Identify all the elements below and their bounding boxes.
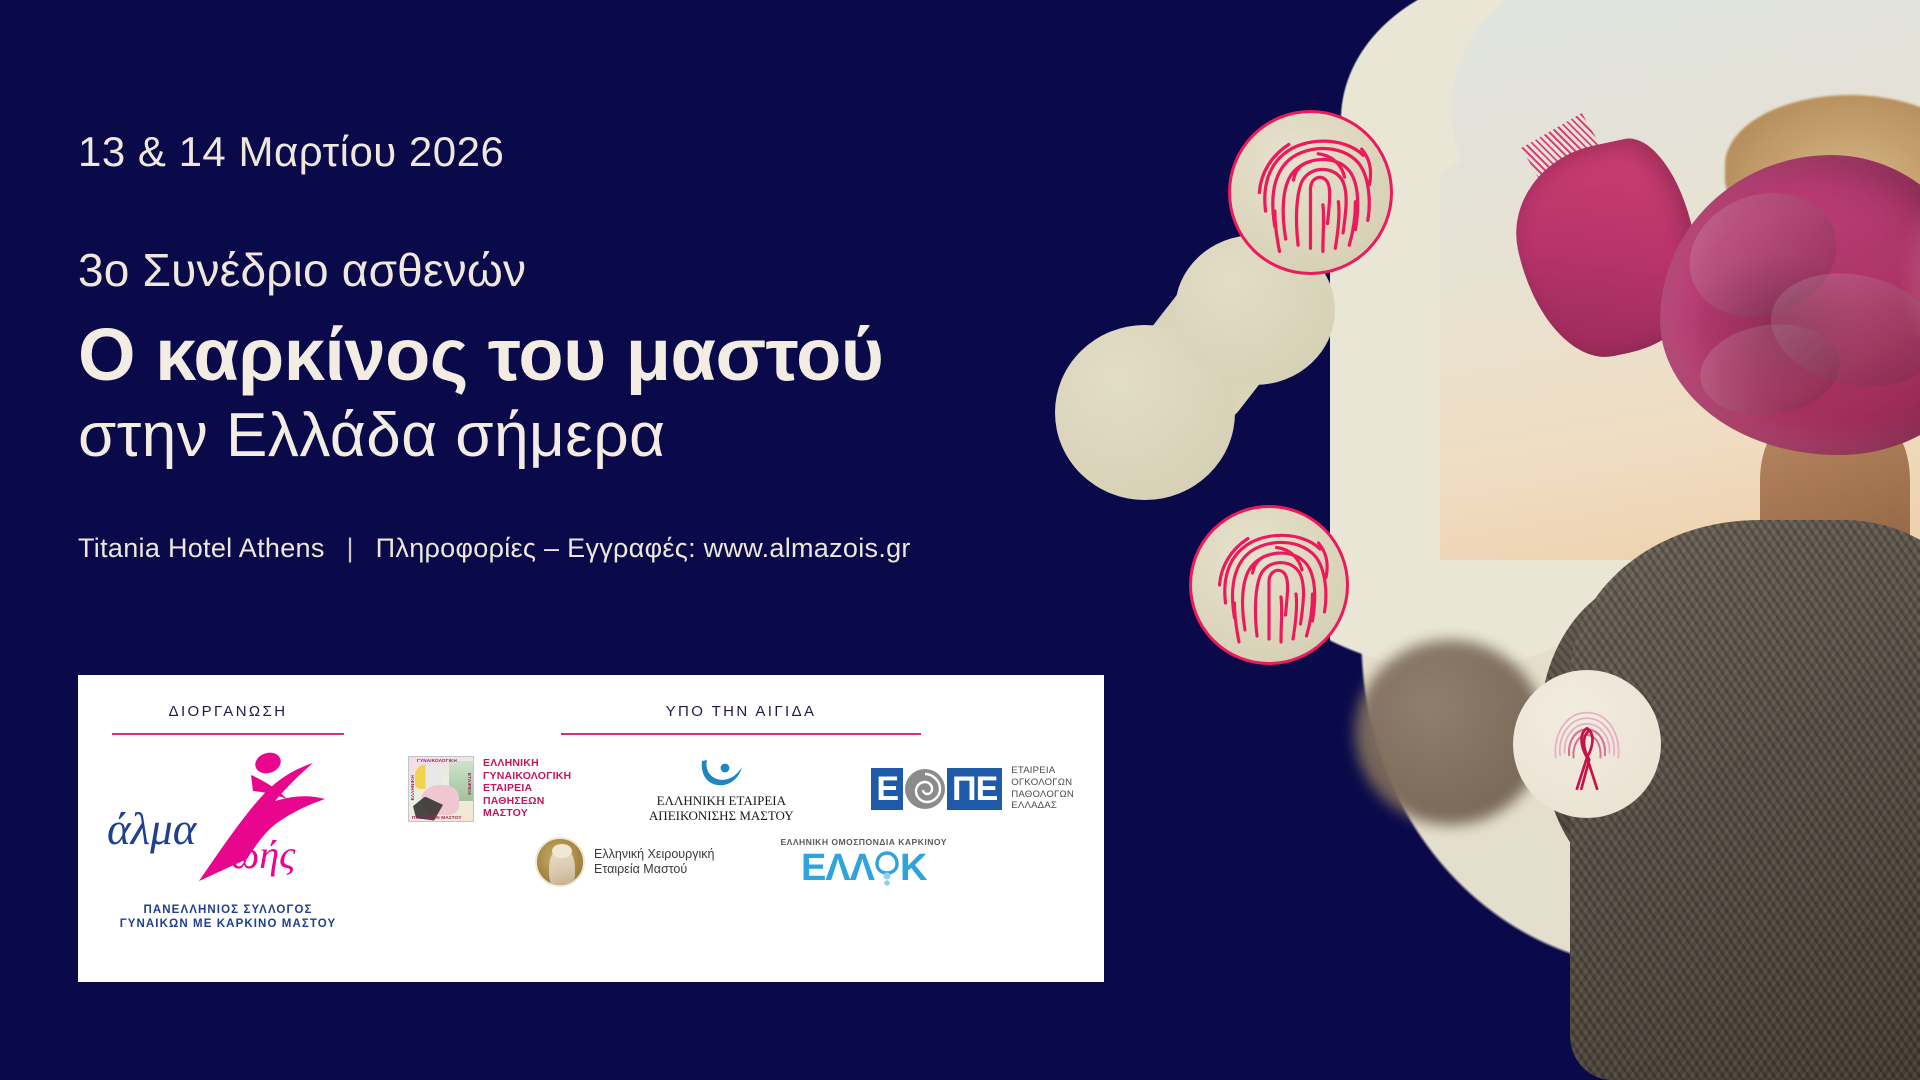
logo-elliniki-etaireia-apeikonisis-mastou[interactable]: ΕΛΛΗΝΙΚΗ ΕΤΑΙΡΕΙΑ ΑΠΕΙΚΟΝΙΣΗΣ ΜΑΣΤΟΥ [649,755,794,823]
eeam-label-line-1: ΕΛΛΗΝΙΚΗ ΕΤΑΙΡΕΙΑ [649,793,794,808]
auspices-title: ΥΠΟ ΤΗΝ ΑΙΓΙΔΑ [400,703,1082,720]
ellok-word-left: ΕΛΛ [801,849,874,887]
alma-zois-logo[interactable]: άλμα ωής ΠΑΝΕΛΛΗΝΙΟΣ ΣΥΛΛΟΓΟΣ ΓΥΝΑΙΚΩΝ Μ… [103,753,353,903]
fingerprint-disc-top [1228,110,1393,275]
auspices-logo-grid: ΓΥΝΑΙΚΟΛΟΓΙΚΗ ΠΑΘΗΣΕΩΝ ΜΑΣΤΟΥ ΕΛΛΗΝΙΚΗ Ε… [400,755,1082,887]
egepm-caption-bottom: ΠΑΘΗΣΕΩΝ ΜΑΣΤΟΥ [412,815,462,820]
photo-shoulder [1540,575,1740,875]
egepm-label: ΕΛΛΗΝΙΚΗ ΓΥΝΑΙΚΟΛΟΓΙΚΗ ΕΤΑΙΡΕΙΑ ΠΑΘΗΣΕΩΝ… [483,757,571,819]
eeam-label: ΕΛΛΗΝΙΚΗ ΕΤΑΙΡΕΙΑ ΑΠΕΙΚΟΝΙΣΗΣ ΜΑΣΤΟΥ [649,793,794,823]
exem-label: Ελληνική Χειρουργική Εταιρεία Μαστού [594,847,714,877]
photo-sky-background [1440,0,1920,560]
eeam-wave-icon [698,755,744,789]
ellok-tagline: ΕΛΛΗΝΙΚΗ ΟΜΟΣΠΟΝΔΙΑ ΚΑΡΚΙΝΟΥ [780,837,946,847]
photo-hair [1725,95,1920,235]
egepm-label-line-1: ΕΛΛΗΝΙΚΗ [483,757,571,769]
ellok-word-right: Κ [900,849,926,887]
event-venue-info: Titania Hotel Athens | Πληροφορίες – Εγγ… [78,533,911,564]
auspices-logo-row-1: ΓΥΝΑΙΚΟΛΟΓΙΚΗ ΠΑΘΗΣΕΩΝ ΜΑΣΤΟΥ ΕΛΛΗΝΙΚΗ Ε… [400,755,1082,823]
sponsors-panel: ΔΙΟΡΓΑΝΩΣΗ άλμα ωής ΠΑΝΕΛΛΗΝΙΟΣ ΣΥΛΛΟΓΟΣ… [78,675,1104,982]
ribbon-disc [1513,670,1661,818]
eope-label: ΕΤΑΙΡΕΙΑ ΟΓΚΟΛΟΓΩΝ ΠΑΘΟΛΟΓΩΝ ΕΛΛΑΔΑΣ [1011,765,1074,811]
photo-blob-shape [1330,0,1920,1080]
conference-banner: 13 & 14 Μαρτίου 2026 3ο Συνέδριο ασθενών… [0,0,1920,1080]
alma-zois-subtitle-line-2: ΓΥΝΑΙΚΩΝ ΜΕ ΚΑΡΚΙΝΟ ΜΑΣΤΟΥ [103,917,353,931]
egepm-label-line-2: ΓΥΝΑΙΚΟΛΟΓΙΚΗ [483,770,571,782]
logo-elliniki-gynaikologiki-etaireia[interactable]: ΓΥΝΑΙΚΟΛΟΓΙΚΗ ΠΑΘΗΣΕΩΝ ΜΑΣΤΟΥ ΕΛΛΗΝΙΚΗ Ε… [408,756,571,822]
organiser-title: ΔΙΟΡΓΑΝΩΣΗ [78,703,378,720]
logo-eope[interactable]: E ΠΕ ΕΤΑΙΡΕΙΑ ΟΓΚΟΛΟΓΩΝ ΠΑΘΟΛΟΓΩΝ ΕΛΛΑΔΑ [871,765,1074,811]
ellok-ribbon-icon [872,850,902,886]
exem-label-line-2: Εταιρεία Μαστού [594,862,714,877]
event-headline: Ο καρκίνος του μαστού [78,312,883,397]
ellok-wordmark: ΕΛΛ Κ [801,849,927,887]
egepm-caption-right: ΕΤΑΙΡΕΙΑ [467,773,472,795]
egepm-caption-left: ΕΛΛΗΝΙΚΗ [410,775,415,800]
event-subheadline: στην Ελλάδα σήμερα [78,400,666,471]
auspices-column: ΥΠΟ ΤΗΝ ΑΙΓΙΔΑ ΓΥΝΑΙΚΟΛΟΓΙΚΗ ΠΑΘΗΣΕΩΝ ΜΑ… [378,675,1104,982]
fingerprint-disc-bottom [1189,505,1349,665]
eope-label-line-3: ΠΑΘΟΛΟΓΩΝ [1011,789,1074,801]
venue-name: Titania Hotel Athens [78,533,325,563]
photo-headscarf [1660,155,1920,455]
decor-tan-blob [1355,640,1545,825]
exem-label-line-1: Ελληνική Χειρουργική [594,847,714,862]
egepm-label-line-3: ΕΤΑΙΡΕΙΑ [483,782,571,794]
logo-ellok[interactable]: ΕΛΛΗΝΙΚΗ ΟΜΟΣΠΟΝΔΙΑ ΚΑΡΚΙΝΟΥ ΕΛΛ Κ [780,837,946,887]
fingerprint-icon [1194,510,1344,660]
egepm-artwork-icon: ΓΥΝΑΙΚΟΛΟΓΙΚΗ ΠΑΘΗΣΕΩΝ ΜΑΣΤΟΥ ΕΛΛΗΝΙΚΗ Ε… [408,756,474,822]
alma-zois-word-1: άλμα [107,803,196,855]
photo-scarf-fringe [1521,113,1601,181]
alma-zois-subtitle-line-1: ΠΑΝΕΛΛΗΝΙΟΣ ΣΥΛΛΟΓΟΣ [103,903,353,917]
egepm-label-line-5: ΜΑΣΤΟΥ [483,807,571,819]
eope-letter-left: E [871,768,903,810]
eope-label-line-2: ΟΓΚΟΛΟΓΩΝ [1011,777,1074,789]
logo-elliniki-cheirourgiki-etaireia-mastou[interactable]: Ελληνική Χειρουργική Εταιρεία Μαστού [535,837,714,887]
event-kicker: 3ο Συνέδριο ασθενών [78,243,526,297]
venue-separator: | [332,533,367,564]
organiser-column: ΔΙΟΡΓΑΝΩΣΗ άλμα ωής ΠΑΝΕΛΛΗΝΙΟΣ ΣΥΛΛΟΓΟΣ… [78,675,378,982]
alma-zois-word-2: ωής [231,831,295,878]
hero-photo [1330,0,1920,1080]
alma-zois-subtitle: ΠΑΝΕΛΛΗΝΙΟΣ ΣΥΛΛΟΓΟΣ ΓΥΝΑΙΚΩΝ ΜΕ ΚΑΡΚΙΝΟ… [103,903,353,931]
photo-sweater [1570,520,1920,1080]
event-date: 13 & 14 Μαρτίου 2026 [78,128,504,176]
eope-label-line-1: ΕΤΑΙΡΕΙΑ [1011,765,1074,777]
eeam-label-line-2: ΑΠΕΙΚΟΝΙΣΗΣ ΜΑΣΤΟΥ [649,808,794,823]
egepm-caption-top: ΓΥΝΑΙΚΟΛΟΓΙΚΗ [417,758,457,763]
egepm-label-line-4: ΠΑΘΗΣΕΩΝ [483,795,571,807]
fingerprint-icon [1233,115,1388,270]
photo-neck [1760,400,1910,590]
eope-label-line-4: ΕΛΛΑΔΑΣ [1011,800,1074,812]
photo-scarf-tail [1500,129,1715,371]
registration-info[interactable]: Πληροφορίες – Εγγραφές: www.almazois.gr [376,533,911,563]
auspices-logo-row-2: Ελληνική Χειρουργική Εταιρεία Μαστού ΕΛΛ… [400,837,1082,887]
exem-statue-icon [535,837,585,887]
organiser-divider [112,733,344,735]
auspices-divider [561,733,921,735]
eope-spiral-icon [904,768,946,810]
awareness-ribbon-icon [1531,688,1643,800]
eope-letters-right: ΠΕ [947,768,1002,810]
eope-mark: E ΠΕ [871,768,1002,810]
